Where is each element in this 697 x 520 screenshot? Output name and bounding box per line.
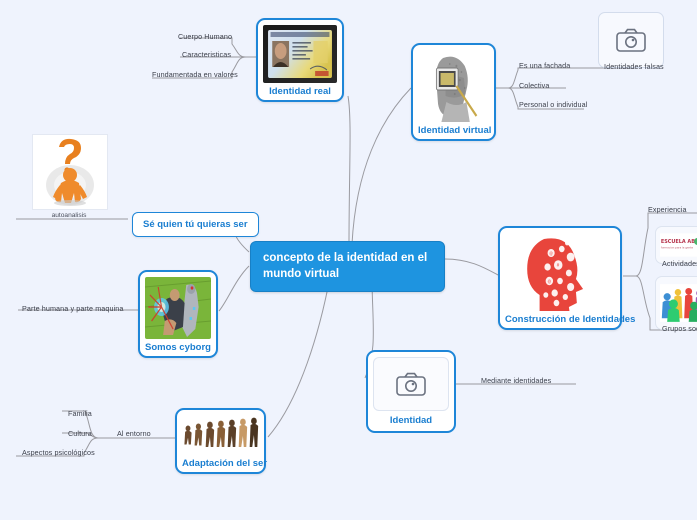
leaf-fundamentada-en-valores[interactable]: Fundamentada en valores (152, 70, 238, 79)
leaf-parte-humana-y-parte-maquina[interactable]: Parte humana y parte maquina (22, 304, 124, 313)
leaf-mediante-identidades[interactable]: Mediante identidades (481, 376, 551, 385)
human-evolution-photo (182, 415, 259, 455)
svg-text:@: @ (548, 278, 552, 283)
node-identidad[interactable]: Identidad (366, 350, 456, 433)
leaf-es-una-fachada[interactable]: Es una fachada (519, 61, 570, 70)
node-grupos-sociales[interactable] (655, 276, 697, 330)
svg-text:#: # (556, 262, 559, 267)
leaf-colectiva[interactable]: Colectiva (519, 81, 549, 90)
label-identidades-falsas: Identidades falsas (604, 62, 664, 71)
svg-text:ESCUELA ABIERTA: ESCUELA ABIERTA (661, 239, 697, 245)
leaf-caracteristicas[interactable]: Caracteristicas (182, 50, 231, 59)
leaf-aspectos-psicologicos[interactable]: Aspectos psicológicos (22, 448, 95, 457)
node-label: Identidad real (263, 83, 337, 97)
leaf-cuerpo-humano[interactable]: Cuerpo Humano (178, 32, 232, 41)
leaf-experiencia[interactable]: Experiencia (648, 205, 687, 214)
node-identidad-virtual[interactable]: Identidad virtual (411, 43, 496, 141)
camera-placeholder-icon (373, 357, 449, 411)
escuela-abierta-logo-photo: ESCUELA ABIERTA formacion para la gente (660, 231, 697, 259)
node-identidades-falsas[interactable] (598, 12, 664, 68)
red-head-social-icons-photo: @#@ (505, 233, 615, 311)
leaf-familia[interactable]: Familia (68, 409, 92, 418)
colored-crowd-figures-photo (660, 281, 697, 325)
node-construccion-de-identidades[interactable]: @#@ Construcción de Identidades (498, 226, 622, 330)
node-se-quien-tu-quieras-ser[interactable]: Sé quien tú quieras ser (132, 212, 259, 237)
mindmap-canvas[interactable]: concepto de la identidad en el mundo vir… (0, 0, 697, 520)
node-somos-cyborg[interactable]: Somos cyborg (138, 270, 218, 358)
leaf-al-entorno[interactable]: Al entorno (117, 429, 151, 438)
node-label: Adaptación del ser (182, 455, 259, 469)
node-label: Somos cyborg (145, 339, 211, 353)
label-autoanalisis: autoanalisis (32, 210, 106, 219)
node-label: Identidad virtual (418, 122, 489, 136)
label-actividades: Actividades (662, 259, 697, 268)
leaf-personal-o-individual[interactable]: Personal o individual (519, 100, 587, 109)
label-grupos-sociales: Grupos sociales (662, 324, 697, 333)
node-autoanalisis[interactable]: autoanalisis (32, 134, 106, 219)
svg-text:@: @ (549, 250, 553, 255)
id-card-photo (263, 25, 337, 83)
leaf-cultura[interactable]: Cultura (68, 429, 92, 438)
central-topic[interactable]: concepto de la identidad en el mundo vir… (250, 241, 445, 292)
cyborg-character-photo (145, 277, 211, 339)
tv-head-figure-photo (418, 50, 489, 122)
orange-figure-question-mark-photo (32, 134, 108, 210)
node-label: Identidad (373, 411, 449, 426)
svg-text:formacion para la gente: formacion para la gente (661, 246, 693, 250)
camera-placeholder-icon (603, 17, 659, 63)
node-label: Construcción de Identidades (505, 311, 615, 325)
node-identidad-real[interactable]: Identidad real (256, 18, 344, 102)
node-adaptacion-del-ser[interactable]: Adaptación del ser (175, 408, 266, 474)
